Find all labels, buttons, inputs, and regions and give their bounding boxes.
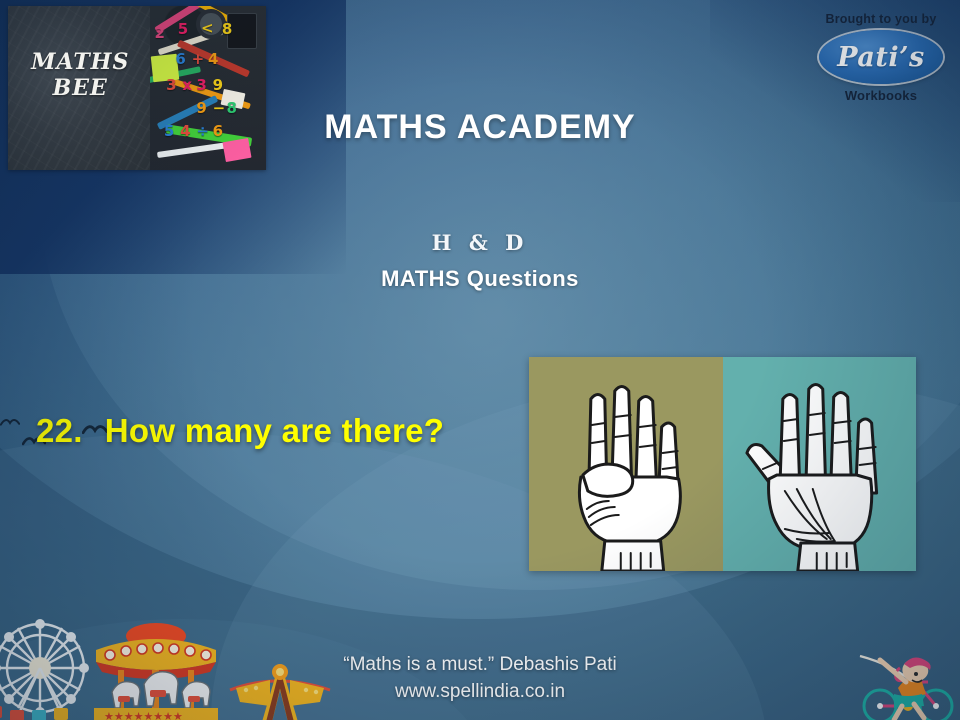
workbooks-text: Workbooks [808,88,954,103]
maths-bee-logo-text: MATHS BEE [18,49,142,102]
presentation-slide: MATHS BEE 2 5 < 8 6 + 4 [0,0,960,720]
patis-brand-text: Pati’s [837,42,924,73]
brought-to-you-by-text: Brought to you by [808,12,954,26]
swing-ride-icon [226,650,334,720]
subheading-maths-questions: MATHS Questions [0,266,960,292]
slide-title: MATHS ACADEMY [0,108,960,147]
hands-counting-image [529,357,916,571]
hand-showing-five-icon [723,357,917,571]
question-line: 22.How many are there? [36,412,444,450]
maths-bee-line-1: MATHS [18,49,142,75]
subheading-initials: H & D [0,230,960,255]
hand-panel-five [723,357,917,571]
maths-bee-line-2: BEE [18,75,142,101]
bird-icon [0,418,20,429]
hand-panel-four [529,357,723,571]
question-text: How many are there? [105,412,444,449]
patis-logo-oval: Pati’s [819,30,943,84]
question-number: 22. [36,412,83,449]
svg-text:★★★★★★★★: ★★★★★★★★ [104,710,183,720]
carousel-icon: ★★★★★★★★ [88,620,224,720]
girl-on-bicycle-icon [854,638,958,720]
patis-workbooks-logo: Brought to you by Pati’s Workbooks [808,2,954,114]
hand-showing-four-icon [529,357,723,571]
